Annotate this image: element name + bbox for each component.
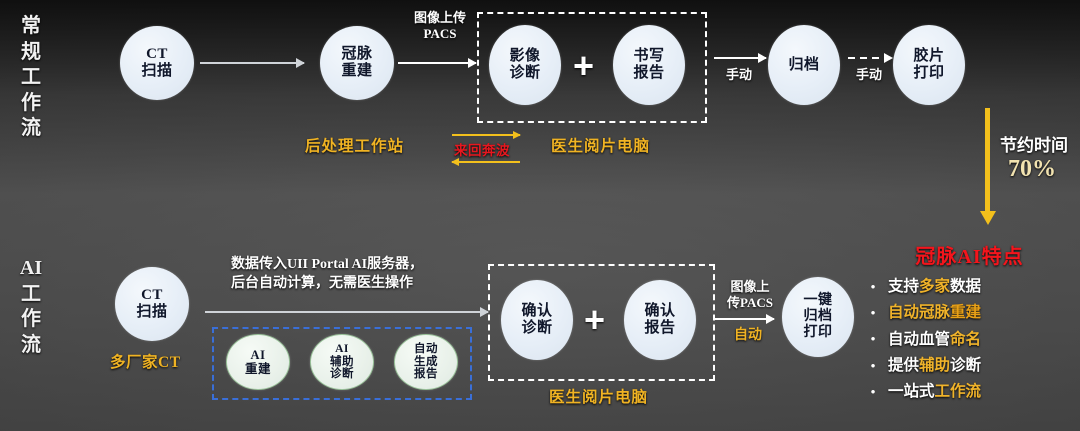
arrow-report-to-archive <box>714 57 766 59</box>
arrow-archive-to-film-print <box>848 57 892 59</box>
plus-icon-ai: + <box>584 302 605 338</box>
bullet-icon: • <box>868 303 878 323</box>
data-transfer-line2: 后台自动计算，无需医生操作 <box>231 275 531 294</box>
features-title: 冠脉AI特点 <box>862 240 1077 269</box>
node-line: CT <box>141 287 163 304</box>
node-line: 归档 <box>788 57 819 74</box>
node-line: 诊断 <box>521 320 552 337</box>
feature-text-segment: 一站式 <box>888 383 935 400</box>
feature-item-label: 自动冠脉重建 <box>888 301 981 324</box>
node-auto-generate-report[interactable]: 自动 生成 报告 <box>394 334 458 390</box>
node-line: 诊断 <box>509 65 540 82</box>
node-write-report[interactable]: 书写 报告 <box>613 25 685 105</box>
node-line: 重建 <box>245 362 271 376</box>
node-line: 影像 <box>509 48 540 65</box>
arrow-ct-to-recon <box>200 62 304 64</box>
node-line: 书写 <box>633 48 664 65</box>
node-line: 重建 <box>341 63 372 80</box>
feature-item-4: •提供辅助诊断 <box>868 354 1077 377</box>
bullet-icon: • <box>868 277 878 297</box>
coronary-ai-features-panel: 冠脉AI特点 •支持多家数据•自动冠脉重建•自动血管命名•提供辅助诊断•一站式工… <box>862 240 1077 406</box>
node-line: 报告 <box>644 320 675 337</box>
feature-text-segment: 支持 <box>888 278 919 295</box>
label-manual-2: 手动 <box>840 67 898 83</box>
feature-text-segment: 重建 <box>950 304 981 321</box>
label-char: 规 <box>6 40 56 66</box>
node-line: 报告 <box>633 65 664 82</box>
feature-text-segment: 诊断 <box>950 357 981 374</box>
arrow-time-savings <box>985 108 990 212</box>
caption-postprocessing-workstation: 后处理工作站 <box>305 134 404 156</box>
feature-item-label: 自动血管命名 <box>888 328 981 351</box>
node-line: 打印 <box>913 65 944 82</box>
node-archive[interactable]: 归档 <box>768 25 840 105</box>
node-line: AI <box>251 348 266 362</box>
node-line: 打印 <box>804 325 833 341</box>
node-line: 诊断 <box>330 368 354 381</box>
label-char: 常 <box>6 14 56 40</box>
feature-item-label: 一站式工作流 <box>888 380 981 403</box>
feature-item-3: •自动血管命名 <box>868 328 1077 351</box>
node-line: 报告 <box>414 368 438 381</box>
bullet-icon: • <box>868 356 878 376</box>
arrow-back-and-forth-left <box>452 161 520 163</box>
label-upload-pacs-ai: 图像上 传PACS <box>717 279 783 312</box>
label-time-savings: 节约时间 <box>1000 131 1068 156</box>
node-line: 辅助 <box>330 356 354 369</box>
diagram-canvas: 常 规 工 作 流 CT 扫描 冠脉 重建 图像上传 PACS 影像 诊断 + … <box>0 0 1080 431</box>
conventional-workflow-label: 常 规 工 作 流 <box>6 14 56 142</box>
feature-text-segment: 工作流 <box>935 383 982 400</box>
node-line: 归档 <box>804 309 833 325</box>
caption-multi-vendor-ct: 多厂家CT <box>110 350 181 372</box>
caption-back-and-forth: 来回奔波 <box>454 139 510 159</box>
features-list: •支持多家数据•自动冠脉重建•自动血管命名•提供辅助诊断•一站式工作流 <box>862 275 1077 403</box>
node-film-print[interactable]: 胶片 打印 <box>893 25 965 105</box>
label-manual-1: 手动 <box>713 67 765 83</box>
feature-text-segment: 多家 <box>919 278 950 295</box>
node-line: 生成 <box>414 356 438 369</box>
label-char: 作 <box>6 91 56 117</box>
arrow-back-and-forth-right <box>452 134 520 136</box>
feature-item-2: •自动冠脉重建 <box>868 301 1077 324</box>
feature-text-segment: 自动冠脉 <box>888 304 950 321</box>
upload-pacs-ai-line2: 传PACS <box>717 295 783 311</box>
label-char: 工 <box>6 282 56 308</box>
feature-text-segment: 自动血管 <box>888 331 950 348</box>
node-line: CT <box>146 46 168 63</box>
node-line: 胶片 <box>913 48 944 65</box>
feature-item-label: 支持多家数据 <box>888 275 981 298</box>
node-line: 冠脉 <box>341 46 372 63</box>
node-line: 一键 <box>804 293 833 309</box>
node-confirm-report[interactable]: 确认 报告 <box>624 280 696 360</box>
upload-pacs-ai-line1: 图像上 <box>717 279 783 295</box>
feature-text-segment: 提供 <box>888 357 919 374</box>
node-line: 确认 <box>521 303 552 320</box>
node-ct-scan-ai[interactable]: CT 扫描 <box>115 267 189 341</box>
label-char: 流 <box>6 333 56 359</box>
node-confirm-diagnosis[interactable]: 确认 诊断 <box>501 280 573 360</box>
node-image-diagnosis[interactable]: 影像 诊断 <box>489 25 561 105</box>
node-line: 扫描 <box>141 63 172 80</box>
feature-text-segment: 辅助 <box>919 357 950 374</box>
bullet-icon: • <box>868 382 878 402</box>
ai-workflow-label: AI 工 作 流 <box>6 256 56 358</box>
label-char: 工 <box>6 65 56 91</box>
feature-text-segment: 数据 <box>950 278 981 295</box>
label-auto: 自动 <box>722 328 774 345</box>
label-char: AI <box>6 256 56 282</box>
caption-doctor-pc-ai: 医生阅片电脑 <box>549 385 648 407</box>
plus-icon-conventional: + <box>573 48 594 84</box>
node-ai-reconstruction[interactable]: AI 重建 <box>226 334 290 390</box>
feature-item-5: •一站式工作流 <box>868 380 1077 403</box>
node-line: 自动 <box>414 343 438 356</box>
caption-doctor-pc-conventional: 医生阅片电脑 <box>551 134 650 156</box>
feature-item-label: 提供辅助诊断 <box>888 354 981 377</box>
arrow-recon-to-diagnosis <box>398 62 476 64</box>
arrow-ct-to-confirm <box>205 311 488 313</box>
node-ct-scan-conventional[interactable]: CT 扫描 <box>120 26 194 100</box>
node-one-click-archive-print[interactable]: 一键 归档 打印 <box>782 277 854 357</box>
label-char: 流 <box>6 116 56 142</box>
label-char: 作 <box>6 307 56 333</box>
feature-text-segment: 命名 <box>950 331 981 348</box>
data-transfer-line1: 数据传入UII Portal AI服务器， <box>231 256 531 275</box>
arrow-confirm-to-one-click <box>714 318 774 320</box>
node-coronary-reconstruction[interactable]: 冠脉 重建 <box>320 26 394 100</box>
node-line: AI <box>335 343 349 356</box>
feature-item-1: •支持多家数据 <box>868 275 1077 298</box>
node-ai-assisted-diagnosis[interactable]: AI 辅助 诊断 <box>310 334 374 390</box>
node-line: 确认 <box>644 303 675 320</box>
label-time-savings-percent: 70% <box>1008 156 1056 183</box>
bullet-icon: • <box>868 329 878 349</box>
label-data-transfer: 数据传入UII Portal AI服务器， 后台自动计算，无需医生操作 <box>231 256 531 294</box>
node-line: 扫描 <box>136 304 167 321</box>
